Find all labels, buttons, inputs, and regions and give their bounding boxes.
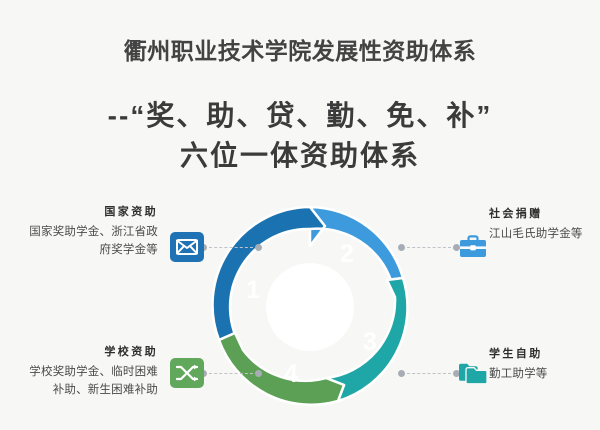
label-school-funding: 学校资助 学校奖助学金、临时困难补助、新生困难补助 — [18, 346, 158, 400]
briefcase-icon — [456, 232, 490, 262]
label-national-funding-title: 国家资助 — [18, 206, 158, 219]
subtitle-line-2: 六位一体资助体系 — [0, 136, 600, 176]
connector-dot — [398, 244, 405, 251]
connector-school — [200, 368, 262, 378]
label-student-self-help-body: 勤工助学等 — [489, 366, 600, 384]
cycle-segment-1-number: 1 — [246, 276, 260, 304]
connector-dash — [209, 373, 253, 374]
label-social-donation-title: 社会捐赠 — [489, 208, 600, 221]
cycle-inner-hole — [266, 263, 354, 351]
page-subtitle: --“奖、助、贷、勤、免、补” 六位一体资助体系 — [0, 96, 600, 176]
label-national-funding: 国家资助 国家奖助学金、浙江省政府奖学金等 — [18, 206, 158, 260]
connector-dash — [407, 373, 451, 374]
connector-dot — [255, 244, 262, 251]
folder-icon — [456, 358, 490, 388]
label-school-funding-title: 学校资助 — [18, 346, 158, 359]
infographic-canvas: 衢州职业技术学院发展性资助体系 --“奖、助、贷、勤、免、补” 六位一体资助体系… — [0, 0, 600, 430]
label-national-funding-body: 国家奖助学金、浙江省政府奖学金等 — [18, 224, 158, 260]
connector-dash — [209, 247, 253, 248]
label-school-funding-body: 学校奖助学金、临时困难补助、新生困难补助 — [18, 364, 158, 400]
connector-dash — [407, 247, 451, 248]
cycle-segment-4-number: 4 — [284, 360, 298, 388]
mail-icon — [170, 232, 204, 262]
connector-national — [200, 242, 262, 252]
connector-dot — [398, 370, 405, 377]
connector-dot — [255, 370, 262, 377]
shuffle-icon — [170, 358, 204, 388]
cycle-segment-3-number: 3 — [363, 328, 377, 356]
connector-social — [398, 242, 460, 252]
cycle-segment-2-number: 2 — [340, 240, 354, 268]
label-social-donation-body: 江山毛氏助学金等 — [489, 226, 600, 244]
connector-self — [398, 368, 460, 378]
label-student-self-help: 学生自助 勤工助学等 — [489, 348, 600, 384]
page-title: 衢州职业技术学院发展性资助体系 — [0, 32, 600, 66]
subtitle-line-1: --“奖、助、贷、勤、免、补” — [0, 96, 600, 136]
label-student-self-help-title: 学生自助 — [489, 348, 600, 361]
label-social-donation: 社会捐赠 江山毛氏助学金等 — [489, 208, 600, 244]
funding-cycle-chart: 1 2 3 4 — [205, 200, 415, 415]
